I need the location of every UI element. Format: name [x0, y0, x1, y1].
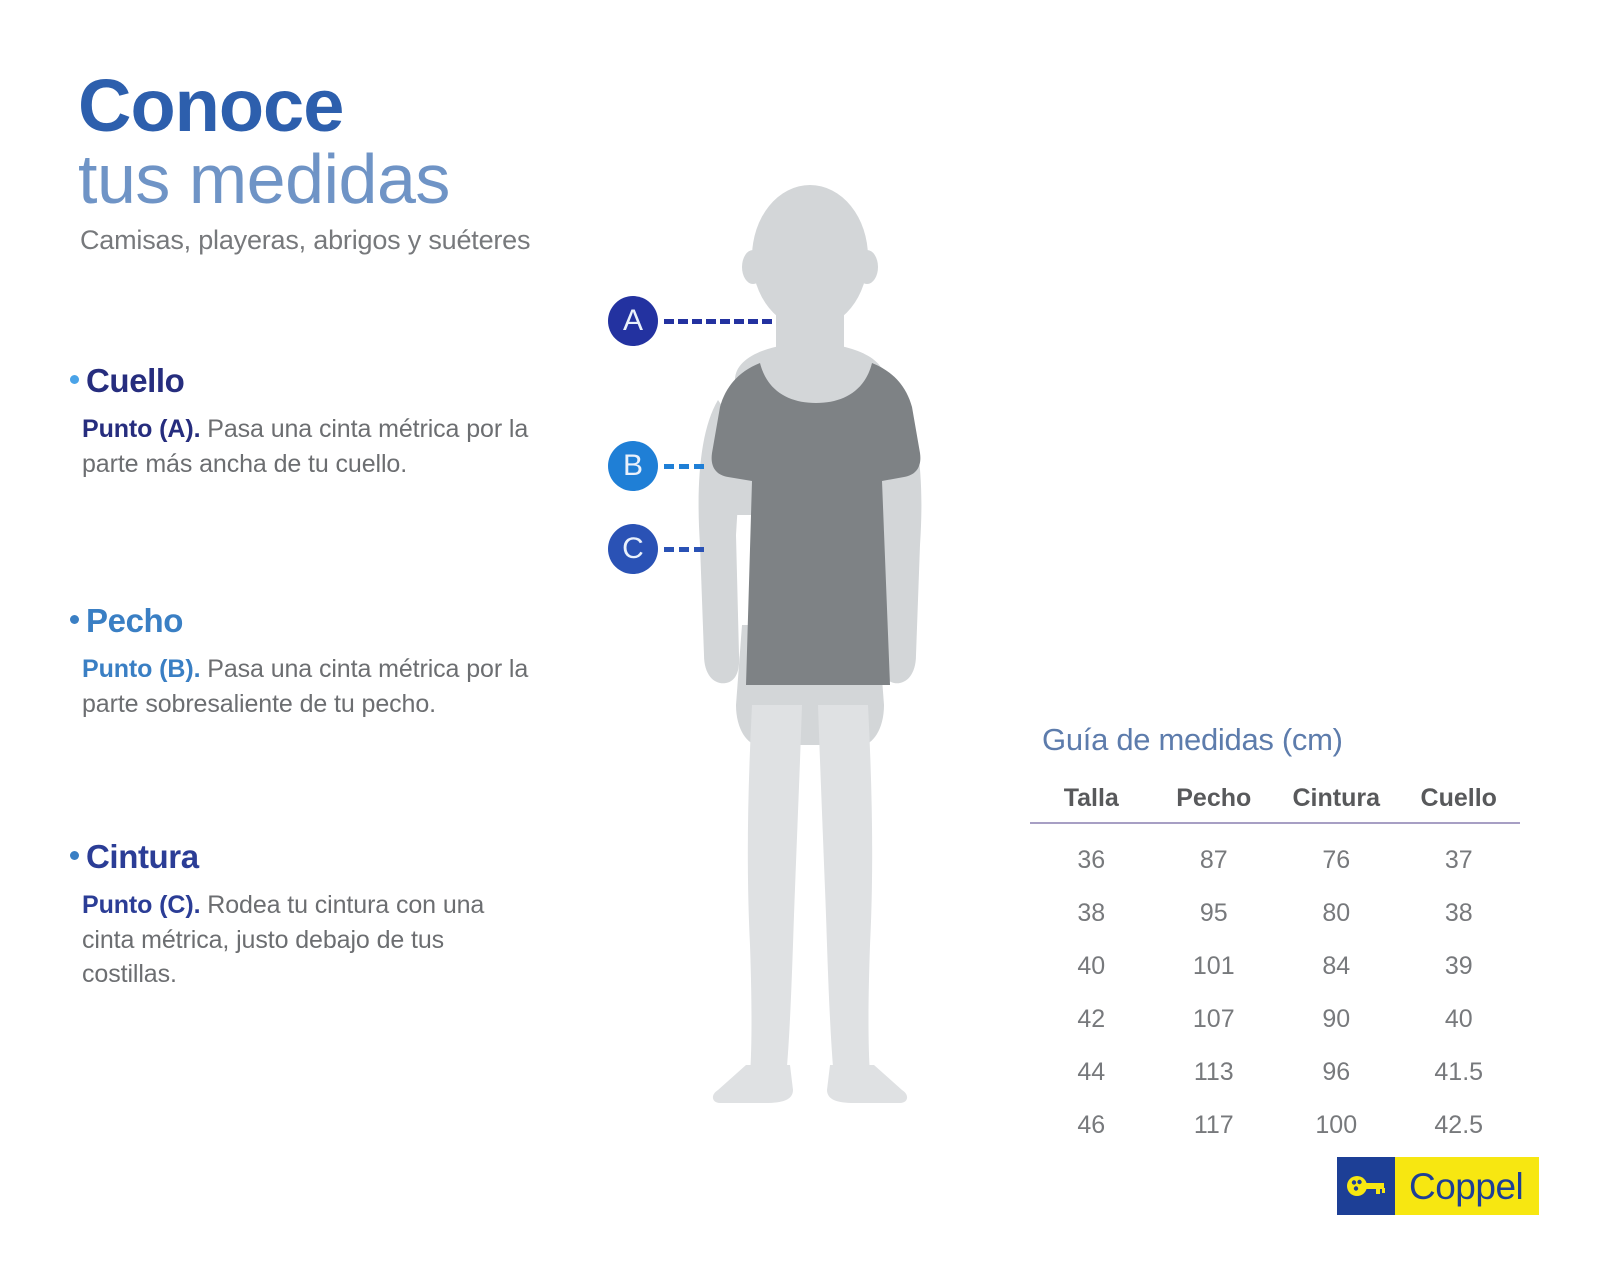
column-header-talla: Talla: [1030, 784, 1153, 823]
coppel-wordmark: Coppel: [1409, 1168, 1523, 1205]
table-cell-talla: 36: [1030, 823, 1153, 887]
page-title: Conoce: [78, 72, 718, 140]
section-heading-label: Cintura: [86, 838, 199, 876]
section-heading-label: Cuello: [86, 362, 184, 400]
punto-label: Punto (A).: [82, 415, 200, 443]
table-cell-cuello: 41.5: [1398, 1046, 1521, 1099]
coppel-key-box: [1337, 1157, 1395, 1215]
table-cell-talla: 38: [1030, 887, 1153, 940]
table-cell-cintura: 76: [1275, 823, 1398, 887]
table-cell-cuello: 42.5: [1398, 1099, 1521, 1152]
table-header-row: Talla Pecho Cintura Cuello: [1030, 784, 1520, 823]
ear-left-shape: [742, 250, 764, 284]
measurement-section-cintura: Cintura Punto (C). Rodea tu cintura con …: [70, 838, 540, 992]
callout-badge-c: C: [608, 524, 658, 574]
table-row: 401018439: [1030, 940, 1520, 993]
section-body-cuello: Punto (A). Pasa una cinta métrica por la…: [82, 412, 540, 481]
size-table: Talla Pecho Cintura Cuello 3687763738958…: [1030, 784, 1520, 1152]
section-body-pecho: Punto (B). Pasa una cinta métrica por la…: [82, 652, 540, 721]
table-cell-pecho: 113: [1153, 1046, 1276, 1099]
table-cell-pecho: 87: [1153, 823, 1276, 887]
table-row: 4611710042.5: [1030, 1099, 1520, 1152]
section-heading-label: Pecho: [86, 602, 183, 640]
leg-left-shape: [748, 705, 802, 1078]
leg-right-shape: [818, 705, 872, 1078]
section-heading-cintura: Cintura: [70, 838, 540, 876]
table-cell-cintura: 100: [1275, 1099, 1398, 1152]
table-cell-pecho: 107: [1153, 993, 1276, 1046]
table-cell-cuello: 38: [1398, 887, 1521, 940]
table-row: 441139641.5: [1030, 1046, 1520, 1099]
table-cell-cuello: 37: [1398, 823, 1521, 887]
table-cell-talla: 44: [1030, 1046, 1153, 1099]
column-header-pecho: Pecho: [1153, 784, 1276, 823]
measurement-section-pecho: Pecho Punto (B). Pasa una cinta métrica …: [70, 602, 540, 721]
callout-badge-a: A: [608, 296, 658, 346]
table-body: 3687763738958038401018439421079040441139…: [1030, 823, 1520, 1152]
coppel-word-box: Coppel: [1395, 1157, 1539, 1215]
size-guide-infographic: Conoce tus medidas Camisas, playeras, ab…: [0, 0, 1600, 1280]
punto-label: Punto (C).: [82, 891, 200, 919]
table-cell-cuello: 39: [1398, 940, 1521, 993]
section-body-cintura: Punto (C). Rodea tu cintura con una cint…: [82, 888, 540, 992]
measurement-section-cuello: Cuello Punto (A). Pasa una cinta métrica…: [70, 362, 540, 481]
column-header-cuello: Cuello: [1398, 784, 1521, 823]
table-cell-cintura: 90: [1275, 993, 1398, 1046]
table-cell-talla: 46: [1030, 1099, 1153, 1152]
callout-marker-c: C: [608, 524, 704, 574]
callout-marker-b: B: [608, 441, 704, 491]
table-cell-cintura: 80: [1275, 887, 1398, 940]
size-guide-table-block: Guía de medidas (cm) Talla Pecho Cintura…: [1030, 722, 1530, 1152]
table-row: 421079040: [1030, 993, 1520, 1046]
foot-left-shape: [713, 1065, 793, 1103]
table-cell-cintura: 84: [1275, 940, 1398, 993]
table-cell-pecho: 95: [1153, 887, 1276, 940]
callout-dash-c: [664, 547, 704, 552]
callout-marker-a: A: [608, 296, 772, 346]
table-row: 38958038: [1030, 887, 1520, 940]
callout-badge-b: B: [608, 441, 658, 491]
table-cell-cintura: 96: [1275, 1046, 1398, 1099]
size-table-title: Guía de medidas (cm): [1042, 722, 1530, 758]
table-cell-talla: 40: [1030, 940, 1153, 993]
ear-right-shape: [856, 250, 878, 284]
bullet-icon: [70, 375, 79, 384]
bullet-icon: [70, 851, 79, 860]
foot-right-shape: [827, 1065, 907, 1103]
section-heading-cuello: Cuello: [70, 362, 540, 400]
table-cell-pecho: 101: [1153, 940, 1276, 993]
key-icon: [1346, 1173, 1386, 1199]
table-cell-cuello: 40: [1398, 993, 1521, 1046]
column-header-cintura: Cintura: [1275, 784, 1398, 823]
section-heading-pecho: Pecho: [70, 602, 540, 640]
table-cell-pecho: 117: [1153, 1099, 1276, 1152]
callout-dash-b: [664, 464, 704, 469]
punto-label: Punto (B).: [82, 655, 200, 683]
callout-dash-a: [664, 319, 772, 324]
table-cell-talla: 42: [1030, 993, 1153, 1046]
table-row: 36877637: [1030, 823, 1520, 887]
bullet-icon: [70, 615, 79, 624]
coppel-logo: Coppel: [1337, 1157, 1539, 1215]
